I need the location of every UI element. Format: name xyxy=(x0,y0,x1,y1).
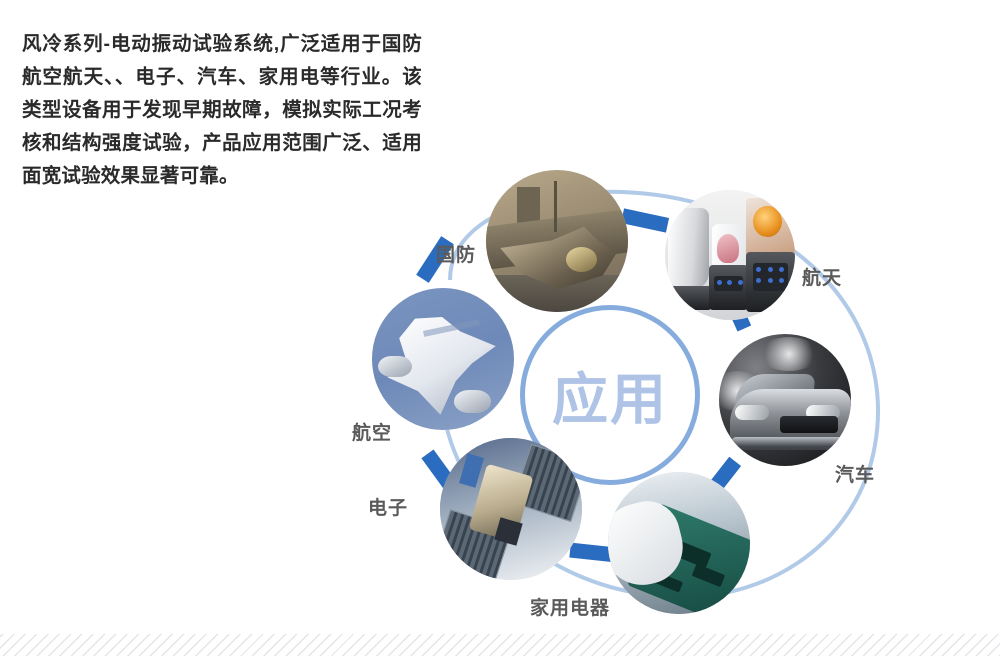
node-appliance-image[interactable] xyxy=(608,472,750,614)
airplane-icon xyxy=(372,288,514,430)
car-icon xyxy=(719,334,851,466)
node-automotive-label: 汽车 xyxy=(835,460,875,487)
satellite-icon xyxy=(440,438,582,580)
node-appliance-label: 家用电器 xyxy=(530,593,610,620)
kitchen-appliance-icon xyxy=(665,190,795,320)
node-automotive-image[interactable] xyxy=(719,334,851,466)
circuit-board-icon xyxy=(608,472,750,614)
application-wheel-diagram: 应用 国防 xyxy=(330,160,970,630)
node-electronics-image[interactable] xyxy=(440,438,582,580)
node-electronics-label: 电子 xyxy=(368,493,408,520)
node-aviation-label: 航空 xyxy=(352,418,392,445)
node-aerospace-label: 航天 xyxy=(802,263,842,290)
node-aviation-image[interactable] xyxy=(372,288,514,430)
node-aerospace-image[interactable] xyxy=(665,190,795,320)
footer-hatch-pattern xyxy=(0,634,1000,656)
node-defense-label: 国防 xyxy=(436,240,476,267)
